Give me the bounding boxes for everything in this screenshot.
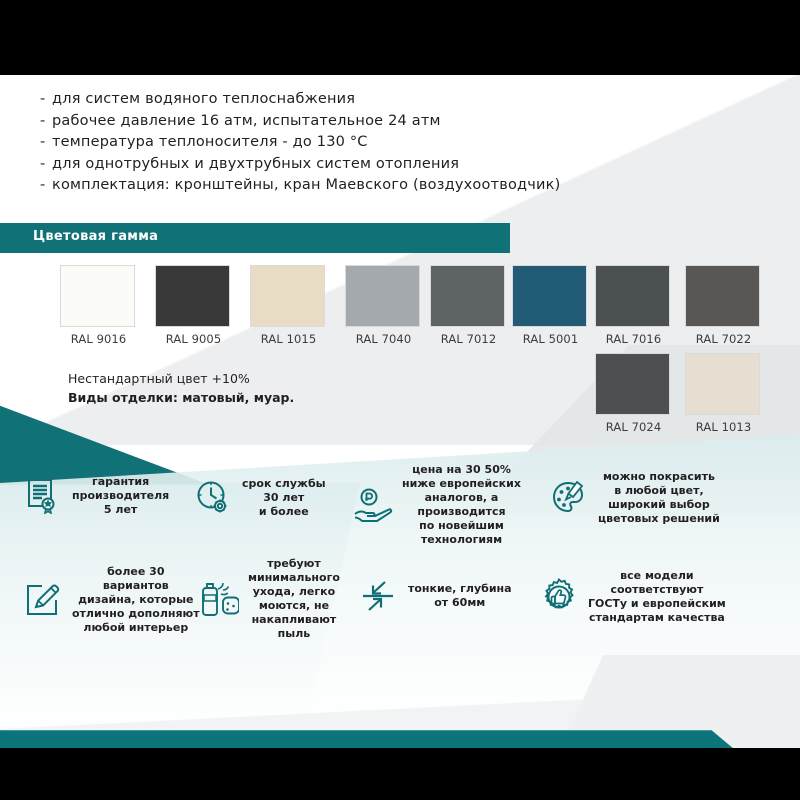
- spray-sponge-icon: [198, 578, 240, 620]
- palette-brush-icon: [548, 477, 590, 519]
- feature-text: гарантия производителя 5 лет: [72, 475, 169, 517]
- feature-design-variants: более 30 вариантов дизайна, которые отли…: [22, 565, 212, 635]
- feature-price: цена на 30 50% ниже европейских аналогов…: [352, 463, 532, 547]
- slide-content-area: -для систем водяного теплоснабжения -раб…: [0, 75, 800, 748]
- feature-text: срок службы 30 лет и более: [242, 477, 326, 519]
- feature-text: тонкие, глубина от 60мм: [408, 582, 512, 610]
- feature-paint-choice: можно покрасить в любой цвет, широкий вы…: [548, 470, 793, 526]
- certificate-icon: [22, 475, 64, 517]
- clock-gear-icon: [192, 477, 234, 519]
- feature-text: все модели соответствуют ГОСТу и европей…: [588, 569, 726, 625]
- feature-text: требуют минимального ухода, легко моются…: [248, 557, 340, 641]
- feature-service-life: срок службы 30 лет и более: [192, 477, 342, 519]
- feature-warranty: гарантия производителя 5 лет: [22, 475, 192, 517]
- thumbs-up-badge-icon: [538, 576, 580, 618]
- feature-text: более 30 вариантов дизайна, которые отли…: [72, 565, 200, 635]
- pencil-design-icon: [22, 579, 64, 621]
- slide-canvas: -для систем водяного теплоснабжения -раб…: [0, 0, 800, 800]
- letterbox-bar-top: [0, 0, 800, 75]
- depth-arrows-icon: [358, 575, 400, 617]
- letterbox-bar-bottom: [0, 748, 800, 800]
- hand-ruble-icon: [352, 484, 394, 526]
- feature-text: можно покрасить в любой цвет, широкий вы…: [598, 470, 720, 526]
- features-grid: гарантия производителя 5 лет срок службы…: [0, 75, 800, 748]
- feature-depth: тонкие, глубина от 60мм: [358, 575, 518, 617]
- feature-standards: все модели соответствуют ГОСТу и европей…: [538, 569, 798, 625]
- feature-text: цена на 30 50% ниже европейских аналогов…: [402, 463, 521, 547]
- feature-easy-care: требуют минимального ухода, легко моются…: [198, 557, 348, 641]
